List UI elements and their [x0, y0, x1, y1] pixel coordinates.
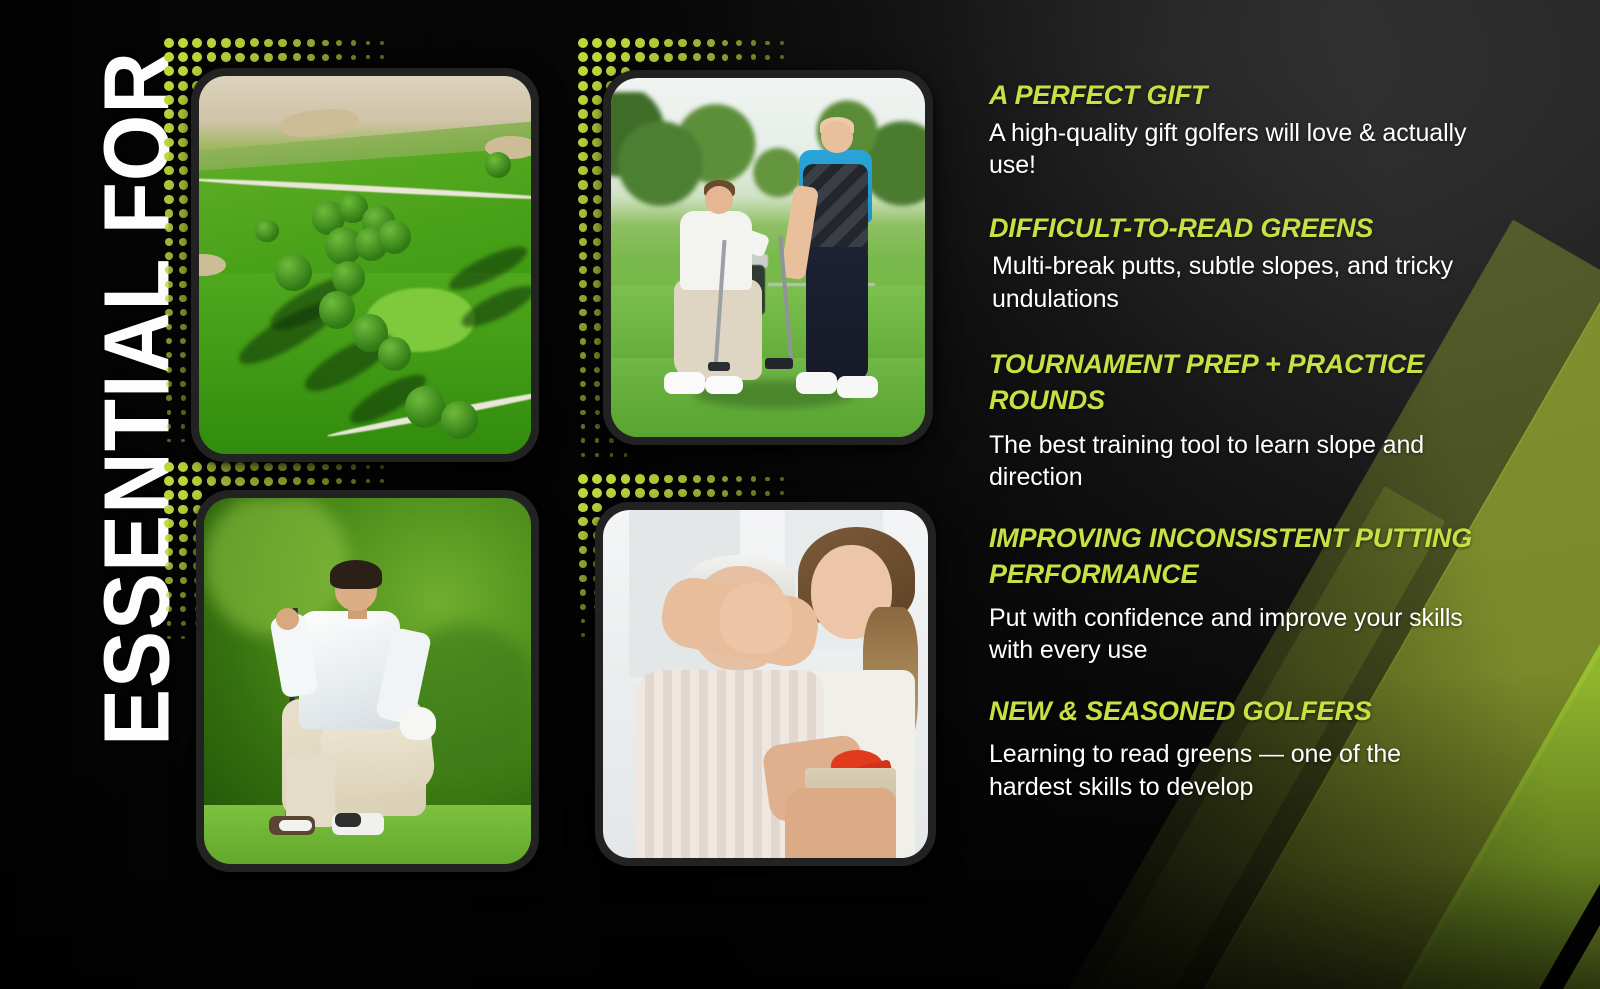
- decorative-dot: [307, 54, 314, 61]
- benefit-item-0: A PERFECT GIFT A high-quality gift golfe…: [989, 78, 1489, 181]
- decorative-dot: [380, 55, 384, 59]
- image-card-golfer-lining-up-putt[interactable]: [196, 490, 539, 872]
- decorative-dot: [578, 123, 588, 133]
- decorative-dot: [165, 281, 173, 289]
- decorative-dot: [581, 438, 585, 442]
- decorative-dot: [780, 55, 784, 59]
- decorative-dot: [235, 462, 244, 471]
- benefit-body-3: Put with confidence and improve your ski…: [989, 602, 1489, 667]
- decorative-dot: [594, 381, 600, 387]
- decorative-dot: [351, 55, 356, 60]
- decorative-dot: [164, 95, 174, 105]
- decorative-dot: [580, 604, 586, 610]
- decorative-dot: [751, 476, 756, 481]
- decorative-dot: [593, 195, 602, 204]
- decorative-dot: [293, 463, 301, 471]
- decorative-dot: [278, 53, 286, 61]
- decorative-dot: [179, 209, 188, 218]
- decorative-dot: [164, 462, 174, 472]
- decorative-dot: [164, 180, 173, 189]
- decorative-dot: [751, 40, 756, 45]
- decorative-dot: [164, 519, 173, 528]
- decorative-dot: [578, 95, 588, 105]
- decorative-dot: [593, 209, 602, 218]
- decorative-dot: [578, 195, 587, 204]
- decorative-dot: [578, 152, 588, 162]
- decorative-dot: [167, 424, 171, 428]
- decorative-dot: [780, 41, 784, 45]
- benefit-body-1: Multi-break putts, subtle slopes, and tr…: [989, 250, 1489, 315]
- decorative-dot: [580, 338, 587, 345]
- decorative-dot: [593, 180, 602, 189]
- decorative-dot: [609, 438, 613, 442]
- decorative-dot: [751, 490, 756, 495]
- decorative-dot: [678, 489, 686, 497]
- decorative-dot: [264, 53, 273, 62]
- decorative-dot: [693, 489, 701, 497]
- decorative-dot: [594, 338, 601, 345]
- decorative-dot: [180, 324, 187, 331]
- decorative-dot: [165, 223, 174, 232]
- decorative-dot: [221, 38, 231, 48]
- decorative-dot: [250, 53, 259, 62]
- decorative-dot: [578, 138, 588, 148]
- decorative-dot: [580, 410, 585, 415]
- decorative-dot: [580, 381, 586, 387]
- decorative-dot: [678, 39, 686, 47]
- photo-golfer-lining-up-putt: [204, 498, 531, 864]
- decorative-dot: [164, 109, 174, 119]
- benefit-item-3: IMPROVING INCONSISTENT PUTTING PERFORMAN…: [989, 521, 1489, 666]
- decorative-dot: [167, 621, 172, 626]
- decorative-dot: [164, 38, 174, 48]
- decorative-dot: [578, 81, 588, 91]
- decorative-dot: [664, 53, 673, 62]
- decorative-dot: [167, 636, 171, 640]
- decorative-dot: [579, 323, 586, 330]
- decorative-dot: [278, 477, 286, 485]
- decorative-dot: [293, 477, 301, 485]
- decorative-dot: [580, 395, 585, 400]
- decorative-dot: [351, 464, 356, 469]
- decorative-dot: [594, 367, 600, 373]
- decorative-dot: [649, 38, 658, 47]
- decorative-dot: [178, 123, 188, 133]
- decorative-dot: [581, 424, 586, 429]
- decorative-dot: [780, 477, 784, 481]
- decorative-dot: [180, 577, 187, 584]
- decorative-dot: [664, 39, 673, 48]
- decorative-dot: [595, 424, 600, 429]
- decorative-dot: [649, 489, 658, 498]
- decorative-dot: [649, 474, 658, 483]
- decorative-dot: [164, 505, 174, 515]
- decorative-dot: [307, 478, 314, 485]
- decorative-dot: [722, 490, 729, 497]
- decorative-dot: [351, 479, 356, 484]
- decorative-dot: [578, 503, 588, 513]
- decorative-dot: [693, 475, 701, 483]
- photo-gift-surprise: [603, 510, 928, 858]
- decorative-dot: [221, 476, 231, 486]
- decorative-dot: [179, 180, 188, 189]
- decorative-dot: [635, 52, 644, 61]
- decorative-dot: [635, 474, 644, 483]
- decorative-dot: [380, 479, 384, 483]
- decorative-dot: [166, 395, 171, 400]
- decorative-dot: [179, 223, 188, 232]
- decorative-dot: [707, 475, 714, 482]
- decorative-dot: [264, 39, 273, 48]
- decorative-dot: [664, 489, 673, 498]
- decorative-dot: [178, 81, 188, 91]
- decorative-dot: [164, 81, 174, 91]
- decorative-dot: [635, 488, 644, 497]
- decorative-dot: [165, 209, 174, 218]
- decorative-dot: [380, 41, 384, 45]
- decorative-dot: [592, 138, 602, 148]
- decorative-dot: [594, 323, 601, 330]
- decorative-dot: [178, 109, 188, 119]
- decorative-dot: [722, 54, 729, 61]
- decorative-dot: [166, 367, 172, 373]
- decorative-dot: [780, 491, 784, 495]
- decorative-dot: [180, 381, 185, 386]
- decorative-dot: [165, 309, 172, 316]
- decorative-dot: [166, 606, 172, 612]
- decorative-dot: [164, 152, 173, 161]
- decorative-dot: [578, 109, 588, 119]
- benefit-heading-1: DIFFICULT-TO-READ GREENS: [989, 211, 1489, 247]
- benefit-body-0: A high-quality gift golfers will love & …: [989, 117, 1489, 182]
- decorative-dot: [180, 606, 186, 612]
- decorative-dot: [165, 577, 172, 584]
- decorative-dot: [181, 621, 186, 626]
- decorative-dot: [707, 53, 714, 60]
- decorative-dot: [322, 54, 329, 61]
- decorative-dot: [178, 95, 188, 105]
- decorative-dot: [235, 38, 244, 47]
- decorative-dot: [322, 478, 329, 485]
- decorative-dot: [164, 138, 174, 148]
- image-card-gift-surprise[interactable]: [595, 502, 936, 866]
- decorative-dot: [165, 295, 172, 302]
- photo-aerial-golf-course: [199, 76, 531, 454]
- decorative-dot: [307, 463, 314, 470]
- decorative-dot: [264, 477, 273, 486]
- decorative-dot: [595, 453, 599, 457]
- decorative-dot: [595, 438, 599, 442]
- benefit-heading-3: IMPROVING INCONSISTENT PUTTING PERFORMAN…: [989, 521, 1489, 593]
- decorative-dot: [592, 109, 602, 119]
- decorative-dot: [580, 367, 586, 373]
- decorative-dot: [678, 53, 686, 61]
- decorative-dot: [594, 352, 600, 358]
- benefit-body-2: The best training tool to learn slope an…: [989, 429, 1489, 494]
- decorative-dot: [181, 410, 186, 415]
- decorative-dot: [649, 53, 658, 62]
- decorative-dot: [578, 38, 588, 48]
- decorative-dot: [678, 475, 686, 483]
- decorative-dot: [751, 54, 756, 59]
- decorative-dot: [593, 223, 602, 232]
- decorative-dot: [581, 453, 585, 457]
- benefits-list: A PERFECT GIFT A high-quality gift golfe…: [989, 78, 1489, 813]
- decorative-dot: [235, 53, 244, 62]
- photo-golf-lesson-putting: [611, 78, 925, 437]
- decorative-dot: [179, 195, 188, 204]
- decorative-dot: [278, 39, 286, 47]
- decorative-dot: [322, 464, 329, 471]
- decorative-dot: [322, 40, 329, 47]
- decorative-dot: [293, 53, 301, 61]
- decorative-dot: [579, 575, 586, 582]
- decorative-dot: [264, 463, 273, 472]
- decorative-dot: [693, 53, 701, 61]
- decorative-dot: [595, 410, 600, 415]
- benefit-heading-0: A PERFECT GIFT: [989, 78, 1489, 114]
- decorative-dot: [221, 462, 231, 472]
- decorative-dot: [578, 531, 587, 540]
- benefit-item-4: NEW & SEASONED GOLFERS Learning to read …: [989, 694, 1489, 802]
- decorative-dot: [221, 52, 231, 62]
- decorative-dot: [578, 180, 587, 189]
- decorative-dot: [765, 55, 770, 60]
- decorative-dot: [664, 475, 673, 484]
- decorative-dot: [351, 40, 356, 45]
- decorative-dot: [166, 381, 171, 386]
- decorative-dot: [592, 95, 602, 105]
- decorative-dot: [278, 463, 286, 471]
- decorative-dot: [635, 38, 644, 47]
- benefit-item-1: DIFFICULT-TO-READ GREENS Multi-break put…: [989, 211, 1489, 314]
- decorative-dot: [580, 352, 586, 358]
- decorative-dot: [579, 295, 587, 303]
- decorative-dot: [181, 424, 185, 428]
- decorative-dot: [707, 489, 714, 496]
- decorative-dot: [180, 367, 186, 373]
- decorative-dot: [765, 491, 770, 496]
- decorative-dot: [610, 453, 614, 457]
- decorative-dot: [592, 81, 602, 91]
- decorative-dot: [164, 195, 173, 204]
- benefit-heading-4: NEW & SEASONED GOLFERS: [989, 694, 1489, 730]
- decorative-dot: [595, 395, 600, 400]
- benefit-heading-2: TOURNAMENT PREP + PRACTICE ROUNDS: [989, 347, 1489, 419]
- decorative-dot: [179, 534, 188, 543]
- benefit-body-4: Learning to read greens — one of the har…: [989, 738, 1489, 803]
- image-card-golf-lesson-putting[interactable]: [603, 70, 933, 445]
- decorative-dot: [707, 39, 714, 46]
- benefit-item-2: TOURNAMENT PREP + PRACTICE ROUNDS The be…: [989, 347, 1489, 493]
- decorative-dot: [380, 465, 384, 469]
- decorative-dot: [578, 474, 588, 484]
- decorative-dot: [181, 395, 186, 400]
- decorative-dot: [307, 39, 314, 46]
- decorative-dot: [235, 477, 244, 486]
- decorative-dot: [167, 410, 172, 415]
- decorative-dot: [579, 209, 588, 218]
- decorative-dot: [293, 39, 301, 47]
- decorative-dot: [250, 477, 259, 486]
- slide-root: ESSENTIAL FOR: [0, 0, 1600, 989]
- decorative-dot: [178, 138, 188, 148]
- decorative-dot: [581, 633, 585, 637]
- decorative-dot: [693, 39, 701, 47]
- page-title: ESSENTIAL FOR: [84, 3, 191, 794]
- decorative-dot: [164, 123, 174, 133]
- decorative-dot: [578, 517, 588, 527]
- image-card-aerial-golf-course[interactable]: [191, 68, 539, 462]
